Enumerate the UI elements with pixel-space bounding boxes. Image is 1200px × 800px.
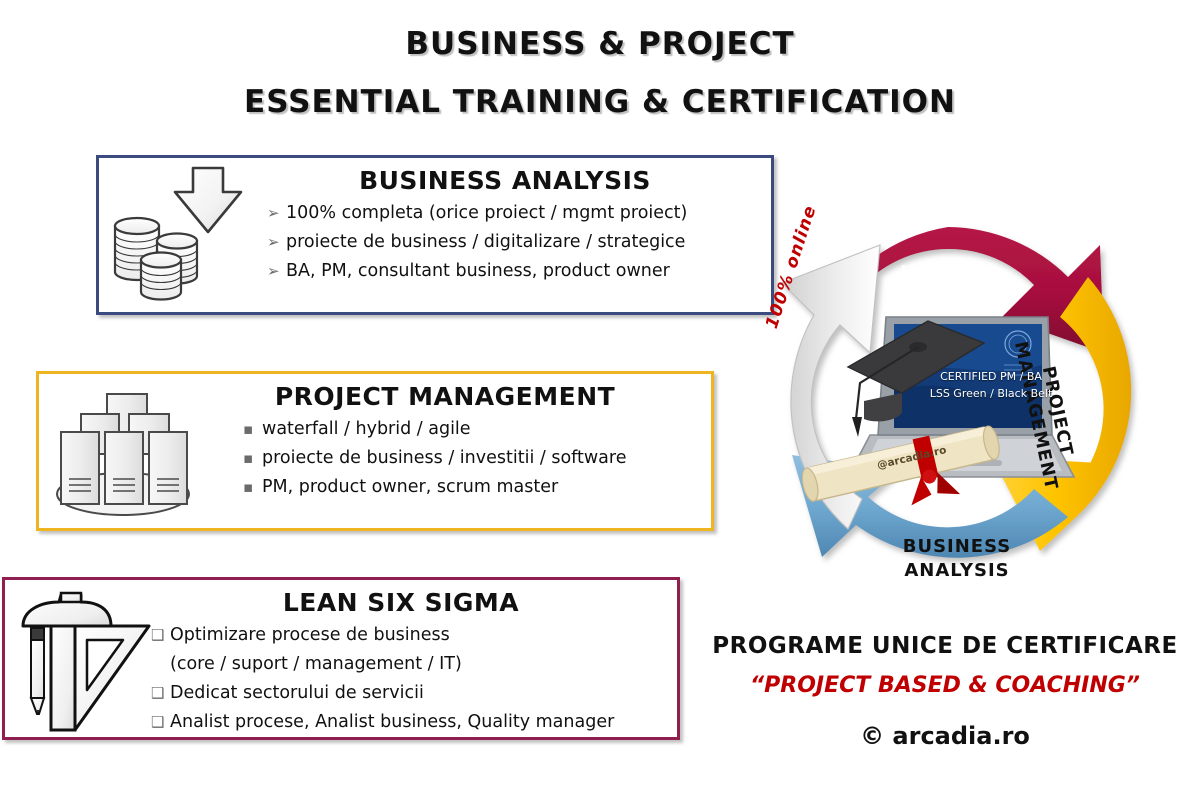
chevron-bullet-icon: ➢ [267, 199, 286, 228]
laptop-line-2: LSS Green / Black Belt [926, 385, 1056, 402]
list-item-continuation: ❑ (core / suport / management / IT) [151, 650, 671, 679]
poster-canvas: BUSINESS & PROJECT ESSENTIAL TRAINING & … [0, 0, 1200, 800]
card-project-management[interactable]: PROJECT MANAGEMENT ▪ waterfall / hybrid … [36, 371, 714, 531]
card-heading-business-analysis: BUSINESS ANALYSIS [245, 166, 765, 195]
hollow-square-bullet-icon: ❑ [151, 621, 170, 650]
laptop-line-1: CERTIFIED PM / BA [926, 368, 1056, 385]
title-line-2: ESSENTIAL TRAINING & CERTIFICATION [0, 82, 1200, 122]
poster-title: BUSINESS & PROJECT ESSENTIAL TRAINING & … [0, 24, 1200, 122]
card-heading-lean-six-sigma: LEAN SIX SIGMA [131, 588, 671, 617]
list-item: ❑ Dedicat sectorului de servicii [151, 679, 671, 708]
list-item: ❑ Analist procese, Analist business, Qua… [151, 708, 671, 737]
footer-block: PROGRAME UNICE DE CERTIFICARE “PROJECT B… [700, 630, 1190, 754]
laptop-screen-text: CERTIFIED PM / BA LSS Green / Black Belt [926, 368, 1056, 402]
list-item: ▪ PM, product owner, scrum master [243, 473, 705, 502]
list-item: ➢ 100% completa (orice proiect / mgmt pr… [267, 199, 765, 228]
card-business-analysis[interactable]: BUSINESS ANALYSIS ➢ 100% completa (orice… [96, 155, 774, 315]
footer-copyright: © arcadia.ro [700, 718, 1190, 754]
coin-stacks-down-arrow-icon [105, 164, 265, 310]
square-bullet-icon: ▪ [243, 415, 262, 444]
title-line-1: BUSINESS & PROJECT [0, 24, 1200, 64]
list-lean-six-sigma: ❑ Optimizare procese de business ❑ (core… [151, 621, 671, 737]
chevron-bullet-icon: ➢ [267, 257, 286, 286]
center-art-overlay: CERTIFIED PM / BA LSS Green / Black Belt… [848, 305, 1088, 505]
list-item: ▪ waterfall / hybrid / agile [243, 415, 705, 444]
list-item: ➢ proiecte de business / digitalizare / … [267, 228, 765, 257]
square-bullet-icon: ▪ [243, 444, 262, 473]
hollow-square-bullet-icon: ❑ [151, 679, 170, 708]
card-heading-project-management: PROJECT MANAGEMENT [185, 382, 705, 411]
hollow-square-bullet-icon: ❑ [151, 708, 170, 737]
server-towers-icon [45, 380, 205, 526]
list-item: ❑ Optimizare procese de business [151, 621, 671, 650]
list-item: ▪ proiecte de business / investitii / so… [243, 444, 705, 473]
footer-line-1: PROGRAME UNICE DE CERTIFICARE [700, 630, 1190, 662]
diploma-label: @arcadia.ro [876, 444, 948, 472]
card-lean-six-sigma[interactable]: LEAN SIX SIGMA ❑ Optimizare procese de b… [2, 577, 680, 740]
certification-cycle-diagram: LEAN 6σ 100% online PROJECT MANAGEMENT B… [752, 205, 1200, 625]
chevron-bullet-icon: ➢ [267, 228, 286, 257]
list-project-management: ▪ waterfall / hybrid / agile ▪ proiecte … [243, 415, 705, 502]
list-item: ➢ BA, PM, consultant business, product o… [267, 257, 765, 286]
square-bullet-icon: ▪ [243, 473, 262, 502]
list-business-analysis: ➢ 100% completa (orice proiect / mgmt pr… [267, 199, 765, 286]
footer-line-2: “PROJECT BASED & COACHING” [700, 668, 1190, 704]
